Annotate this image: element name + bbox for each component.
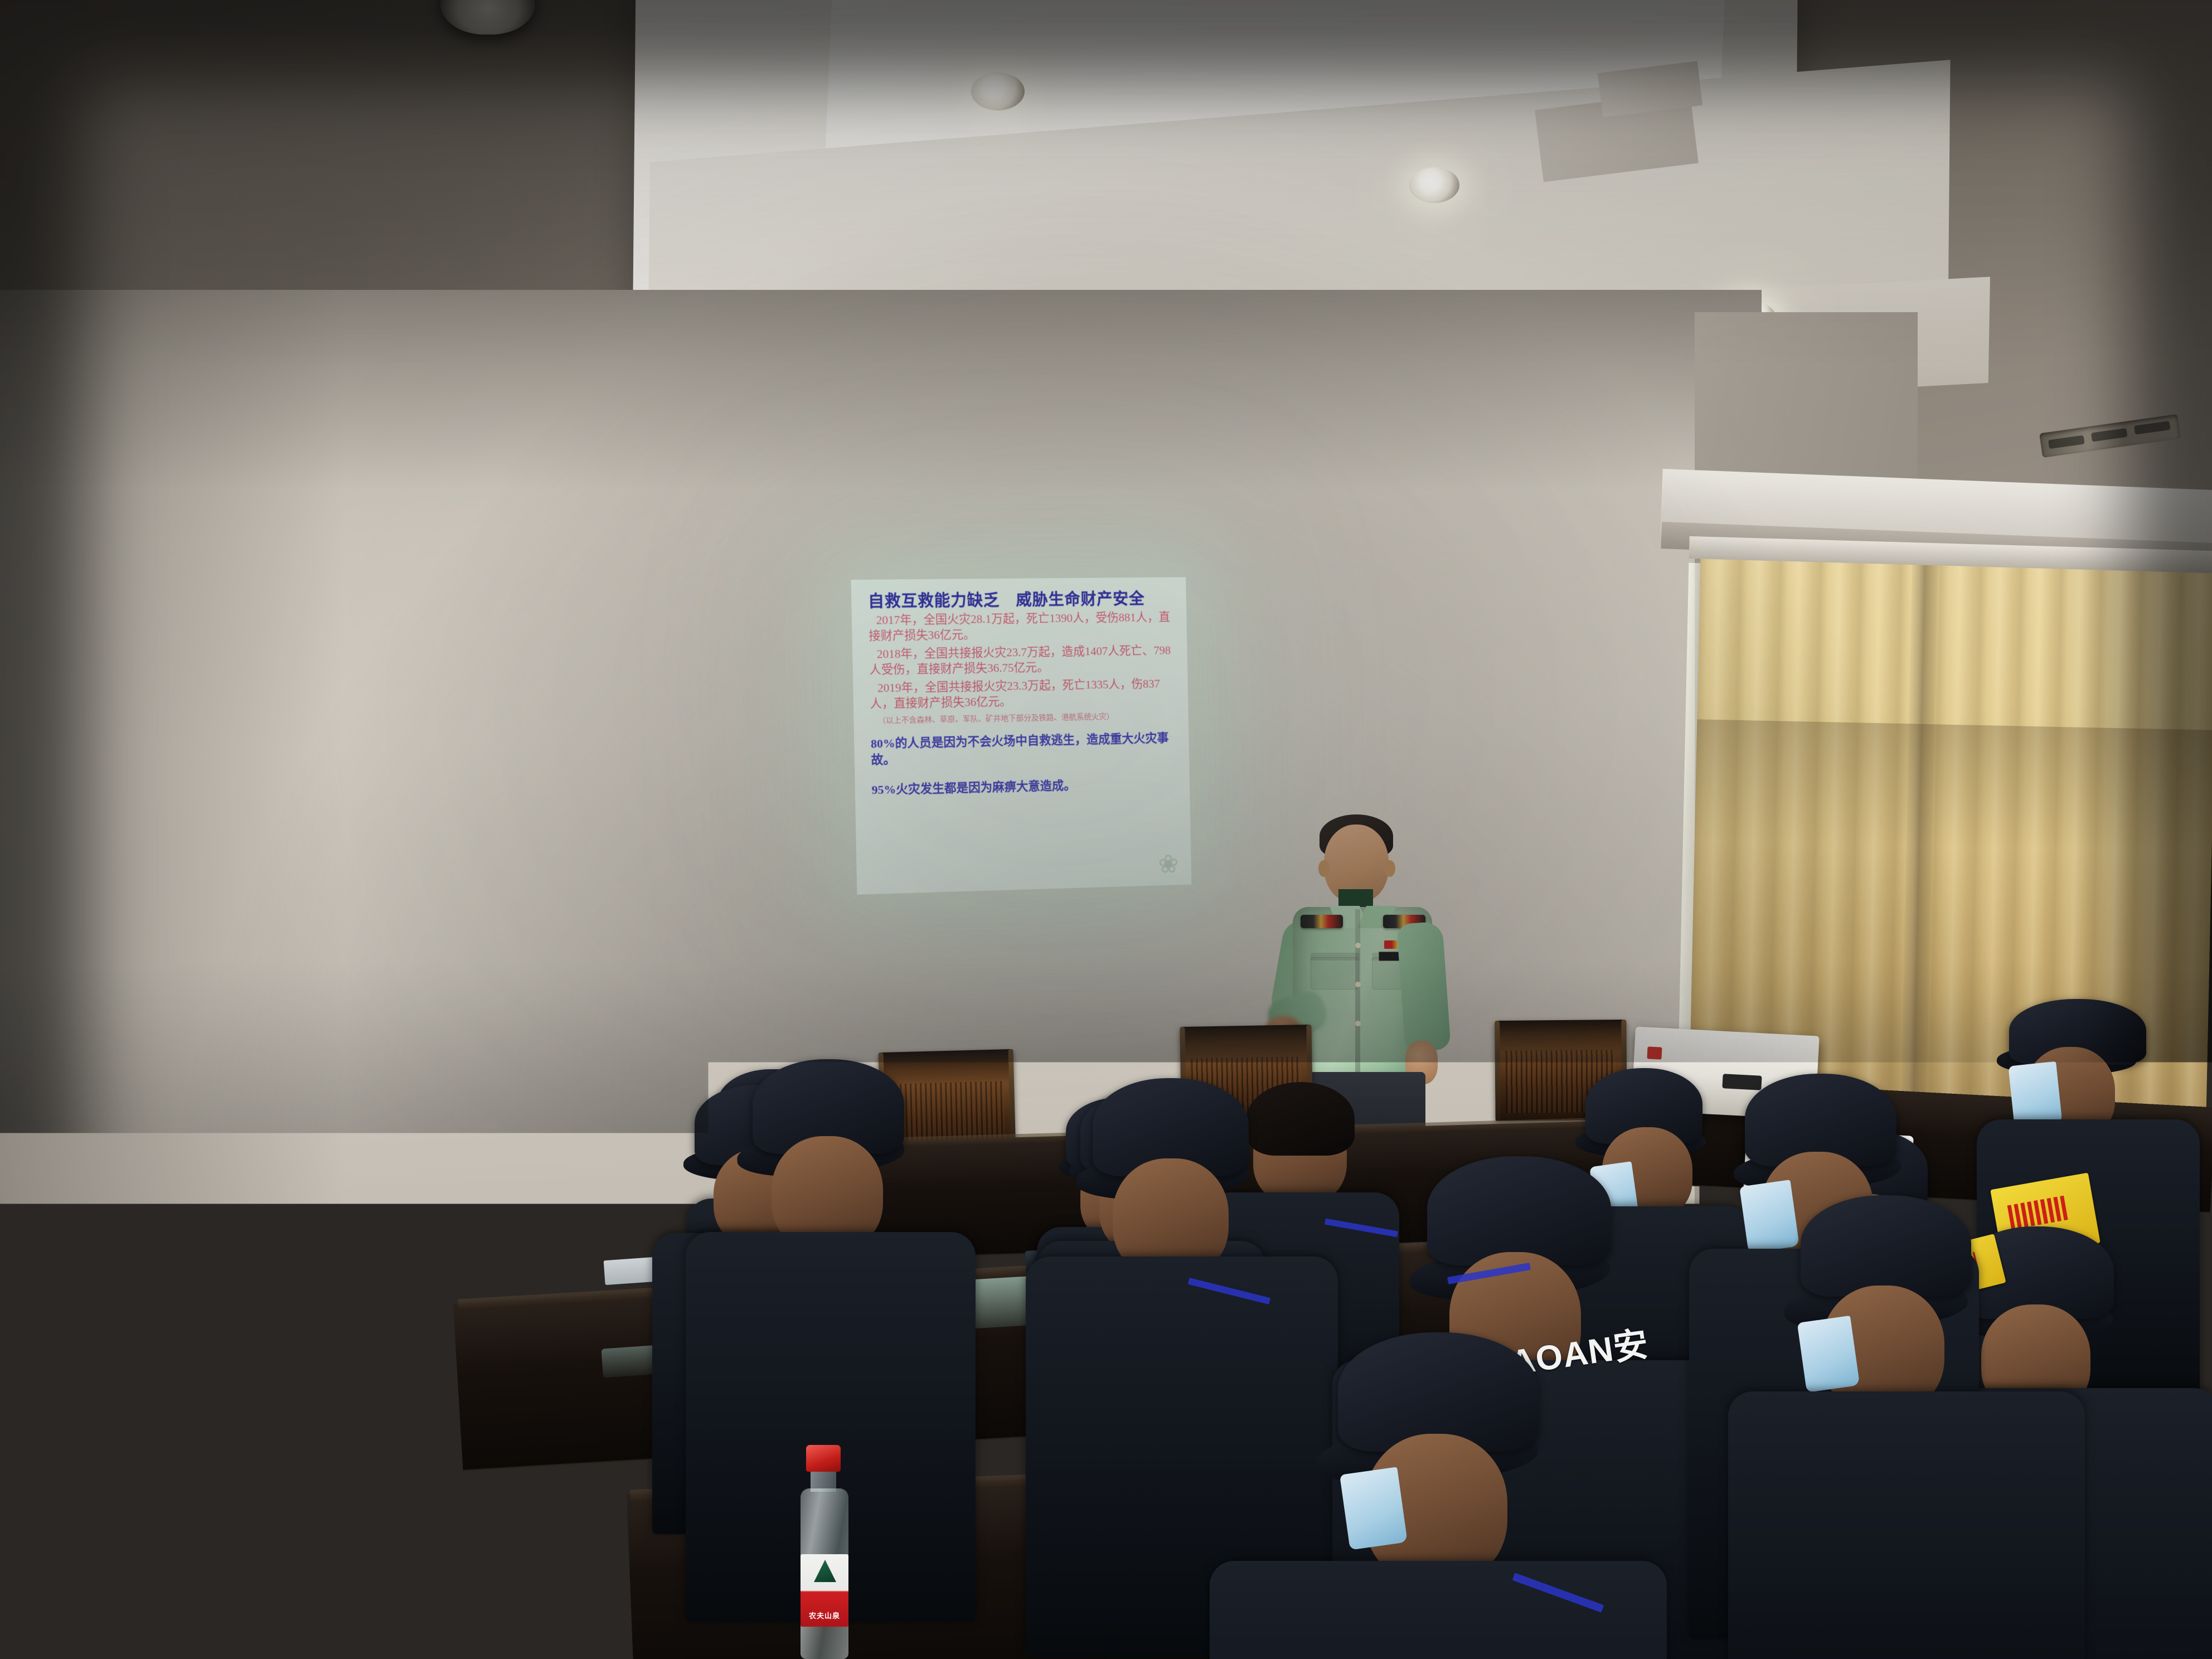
slide-footnote: （以上不含森林、草原、军队、矿井地下部分及铁路、港航系统火灾） <box>870 711 1176 726</box>
presenter-button-3 <box>1355 1021 1361 1026</box>
ceiling-downlight-2 <box>1409 167 1459 203</box>
slide-highlight-95: 95%火灾发生都是因为麻痹大意造成。 <box>871 775 1177 798</box>
presenter-ear-left <box>1318 860 1330 877</box>
bottle-brand-text: 农夫山泉 <box>803 1610 846 1621</box>
wall-top-shade <box>0 290 1762 491</box>
presenter-arm-right <box>1396 921 1451 1052</box>
presenter-button-1 <box>1355 943 1361 948</box>
slide-paragraph-2018: 2018年，全国共接报火灾23.7万起，造成1407人死亡、798人受伤，直接财… <box>869 643 1175 678</box>
presenter-pocket-left <box>1311 957 1359 989</box>
slide-paragraph-2019: 2019年，全国共接报火灾23.3万起，死亡1335人，伤837人，直接财产损失… <box>870 676 1176 712</box>
ceiling-shadow-left <box>0 0 658 312</box>
presenter-epaulette-left <box>1301 915 1343 928</box>
bottle-cap[interactable] <box>806 1445 841 1472</box>
presenter-button-2 <box>1355 982 1361 987</box>
projected-slide: 自救互救能力缺乏威胁生命财产安全 2017年，全国火灾28.1万起，死亡1390… <box>851 577 1192 895</box>
slide-title-right: 威胁生命财产安全 <box>1016 590 1145 609</box>
foreground-attendee <box>33 1215 346 1659</box>
presenter-shirt-placket <box>1355 909 1360 1076</box>
slide-watermark-icon: ❀ <box>1152 847 1185 881</box>
face-mask-icon <box>240 1389 305 1469</box>
presenter-flag-badge <box>1384 940 1398 949</box>
water-bottle[interactable]: 农夫山泉 <box>798 1445 851 1659</box>
slide-paragraph-2017: 2017年，全国火灾28.1万起，死亡1390人，受伤881人，直接财产损失36… <box>869 610 1175 644</box>
slide-highlight-80: 80%的人员是因为不会火场中自救逃生，造成重大火灾事故。 <box>871 730 1177 768</box>
slide-title-left: 自救互救能力缺乏 <box>868 592 1000 611</box>
slide-title: 自救互救能力缺乏威胁生命财产安全 <box>868 591 1173 610</box>
presenter-ear-right <box>1384 860 1395 877</box>
projector-case-handle[interactable] <box>1722 1074 1762 1090</box>
ceiling-downlight-1 <box>971 72 1025 110</box>
meeting-room-photo: 自救互救能力缺乏威胁生命财产安全 2017年，全国火灾28.1万起，死亡1390… <box>0 0 2212 1659</box>
projector-case-clip[interactable] <box>1647 1046 1662 1059</box>
